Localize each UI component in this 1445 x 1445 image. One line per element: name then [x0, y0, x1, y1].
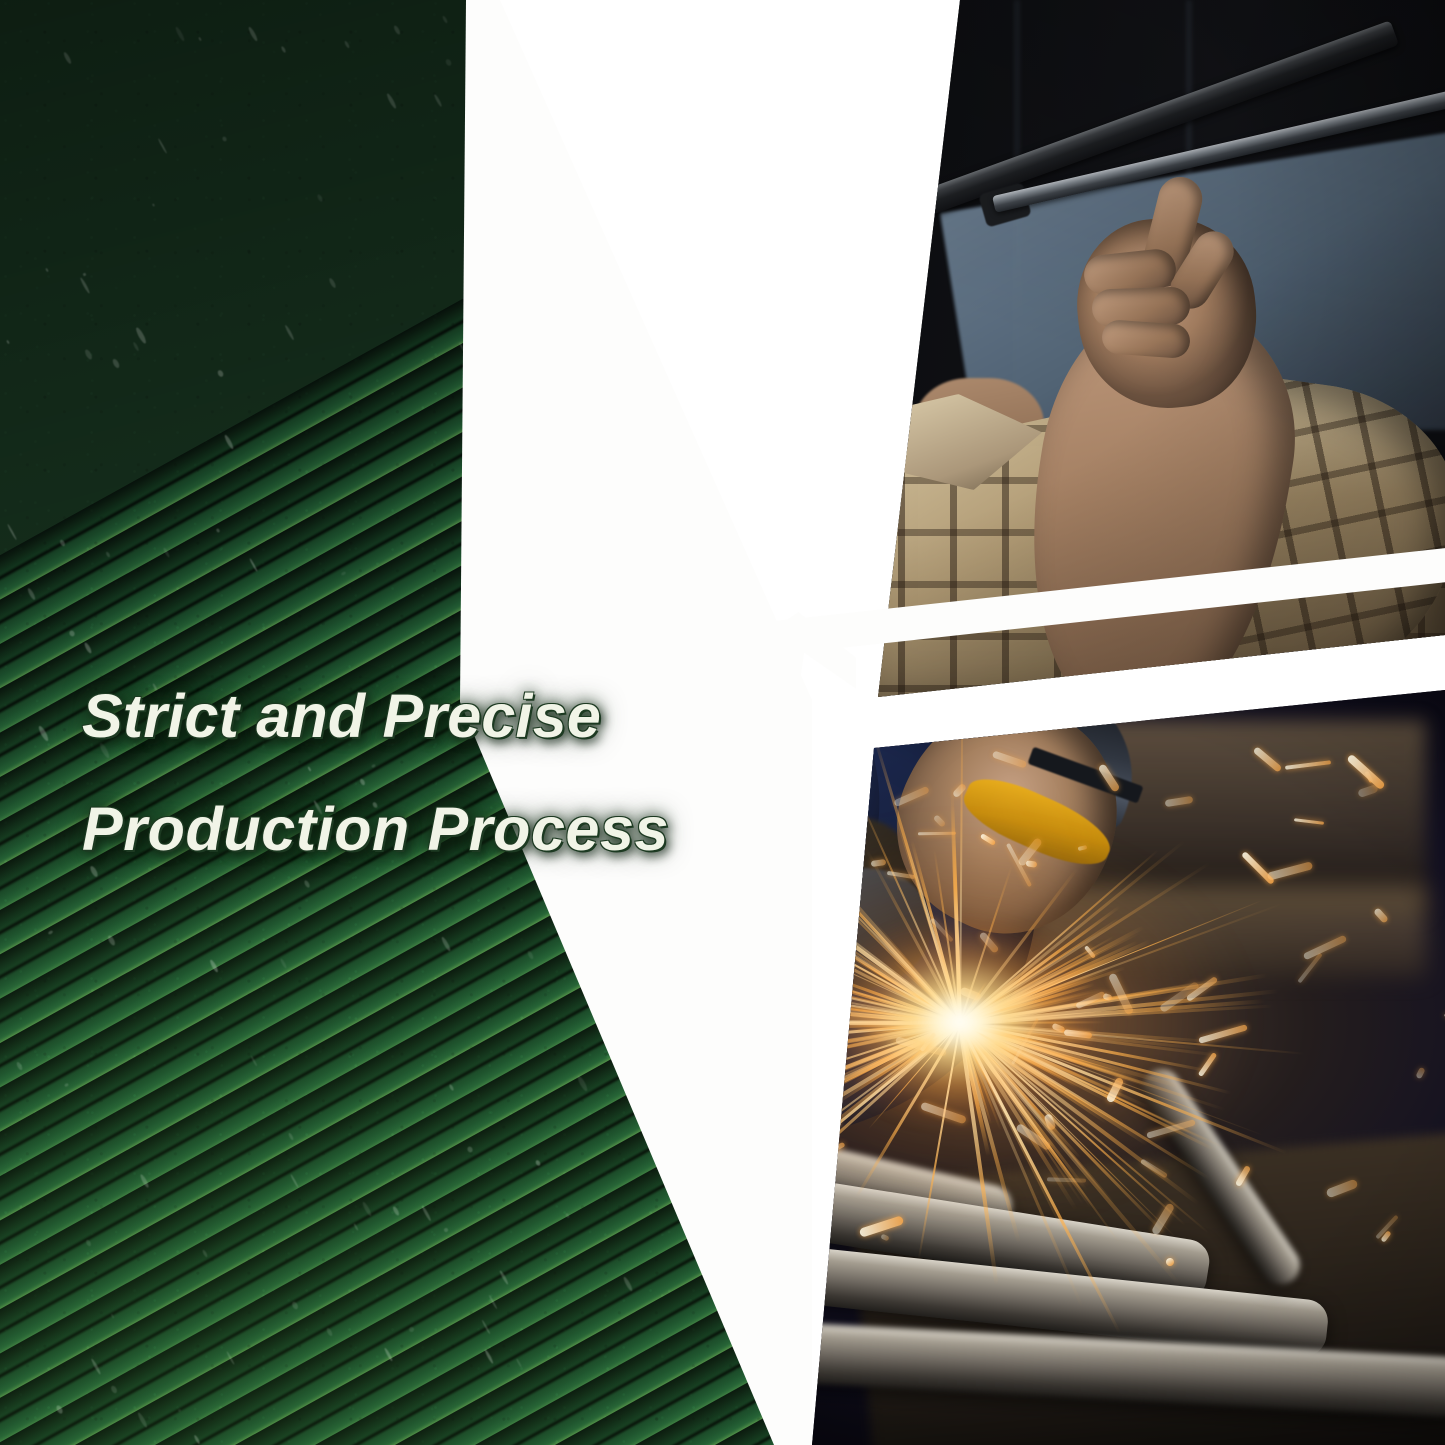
divider-elbow [760, 612, 856, 732]
banner-canvas: Strict and Precise Production Process [0, 0, 1445, 1445]
worker-eyebrow [686, 236, 782, 256]
worker-iris [794, 254, 816, 276]
forehead-wrinkle [666, 206, 798, 226]
cheek-wrinkle [675, 276, 770, 300]
worker-cheek [670, 352, 858, 464]
worker-hair [594, 94, 888, 255]
worker-nose [710, 268, 806, 360]
forehead-wrinkle [661, 186, 810, 213]
worker-eyebrow [780, 224, 864, 244]
worker-eye [774, 252, 832, 278]
